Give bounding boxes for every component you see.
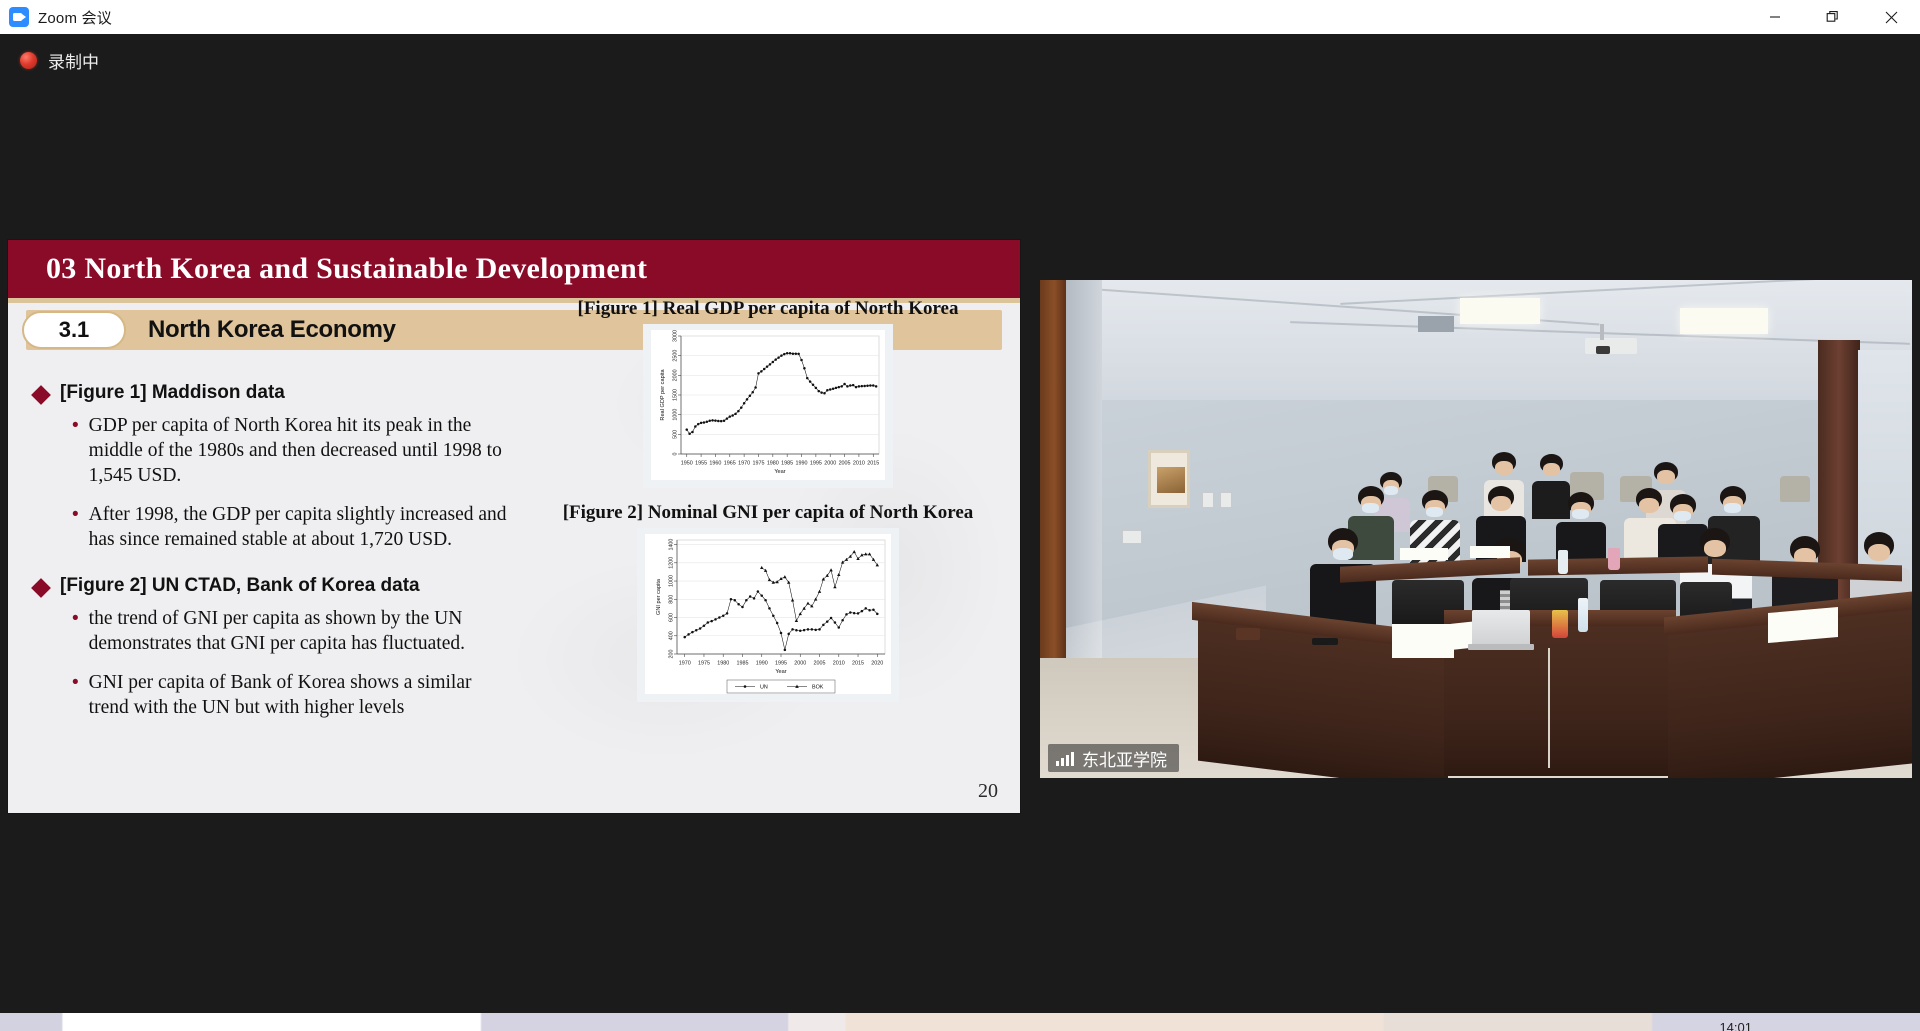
svg-text:800: 800 (668, 595, 674, 604)
diamond-bullet-icon (31, 578, 51, 598)
bullet-dot-icon: • (72, 414, 79, 489)
bullet-text: GDP per capita of North Korea hit its pe… (89, 414, 509, 489)
svg-text:1980: 1980 (767, 461, 779, 467)
slide-block-bullets: • the trend of GNI per capita as shown b… (72, 607, 564, 721)
record-dot-icon (20, 52, 37, 69)
svg-text:2015: 2015 (852, 661, 864, 667)
svg-text:1995: 1995 (810, 461, 822, 467)
svg-text:GNI per capita: GNI per capita (656, 578, 662, 615)
window-title-bar: Zoom 会议 (0, 0, 1920, 34)
bullet-text: After 1998, the GDP per capita slightly … (89, 503, 509, 553)
slide-title: 03 North Korea and Sustainable Developme… (46, 252, 647, 286)
window-title: Zoom 会议 (38, 7, 112, 28)
svg-text:2015: 2015 (867, 461, 879, 467)
svg-text:1980: 1980 (717, 661, 729, 667)
svg-text:2010: 2010 (833, 661, 845, 667)
slide-block-heading: [Figure 2] UN CTAD, Bank of Korea data (34, 575, 564, 597)
svg-text:1975: 1975 (752, 461, 764, 467)
figure2-container[interactable]: 2004006008001000120014001970197519801985… (637, 528, 899, 702)
svg-text:2005: 2005 (814, 661, 826, 667)
slide-header-bar: 03 North Korea and Sustainable Developme… (8, 240, 1020, 298)
shared-screen-slide[interactable]: 03 North Korea and Sustainable Developme… (8, 240, 1020, 813)
slide-block-heading: [Figure 1] Maddison data (34, 382, 564, 404)
svg-text:1970: 1970 (679, 661, 691, 667)
list-item: • GDP per capita of North Korea hit its … (72, 414, 564, 489)
slide-figures-column: [Figure 1] Real GDP per capita of North … (528, 298, 1008, 702)
svg-text:1985: 1985 (736, 661, 748, 667)
participant-name-label: 东北亚学院 (1048, 744, 1179, 772)
background-window-clock: 14:01 (1719, 1020, 1752, 1031)
restore-button[interactable] (1804, 0, 1862, 34)
svg-text:2500: 2500 (672, 350, 678, 362)
svg-text:1000: 1000 (668, 575, 674, 587)
bullet-text: the trend of GNI per capita as shown by … (89, 607, 509, 657)
figure1-container[interactable]: 0500100015002000250030001950195519601965… (643, 324, 893, 488)
svg-text:Year: Year (775, 669, 786, 675)
svg-text:2000: 2000 (824, 461, 836, 467)
list-item: • GNI per capita of Bank of Korea shows … (72, 671, 564, 721)
bullet-dot-icon: • (72, 671, 79, 721)
signal-bars-icon (1056, 751, 1074, 766)
svg-text:2000: 2000 (794, 661, 806, 667)
svg-text:1955: 1955 (695, 461, 707, 467)
window-controls (1746, 0, 1920, 34)
section-title: North Korea Economy (148, 316, 396, 344)
svg-text:1985: 1985 (781, 461, 793, 467)
svg-text:400: 400 (668, 631, 674, 640)
block-heading-text: [Figure 1] Maddison data (60, 382, 285, 404)
list-item: • After 1998, the GDP per capita slightl… (72, 503, 564, 553)
minimize-button[interactable] (1746, 0, 1804, 34)
svg-text:1500: 1500 (672, 389, 678, 401)
svg-text:1400: 1400 (668, 539, 674, 551)
restore-icon (1826, 10, 1840, 24)
close-button[interactable] (1862, 0, 1920, 34)
svg-text:1950: 1950 (681, 461, 693, 467)
zoom-camera-icon (9, 7, 29, 27)
figure1-svg: 0500100015002000250030001950195519601965… (651, 330, 885, 480)
figure2-plot: 2004006008001000120014001970197519801985… (645, 534, 891, 694)
svg-text:600: 600 (668, 613, 674, 622)
svg-text:1995: 1995 (775, 661, 787, 667)
slide-text-column: [Figure 1] Maddison data • GDP per capit… (34, 368, 564, 735)
svg-text:BOK: BOK (812, 685, 824, 691)
block-heading-text: [Figure 2] UN CTAD, Bank of Korea data (60, 575, 420, 597)
svg-text:1000: 1000 (672, 409, 678, 421)
figure2-svg: 2004006008001000120014001970197519801985… (645, 534, 891, 694)
svg-text:1975: 1975 (698, 661, 710, 667)
participant-video-tile[interactable]: 东北亚学院 (1040, 280, 1912, 778)
recording-indicator[interactable]: 录制中 (20, 48, 99, 73)
background-window-strip[interactable] (0, 1013, 1920, 1031)
svg-text:3000: 3000 (672, 330, 678, 342)
svg-text:Year: Year (774, 469, 785, 475)
section-number-badge: 3.1 (22, 311, 126, 349)
svg-text:1970: 1970 (738, 461, 750, 467)
bullet-dot-icon: • (72, 503, 79, 553)
figure1-caption: [Figure 1] Real GDP per capita of North … (528, 298, 1008, 320)
minimize-icon (1769, 11, 1781, 23)
bullet-text: GNI per capita of Bank of Korea shows a … (89, 671, 509, 721)
svg-text:UN: UN (760, 685, 768, 691)
close-icon (1885, 11, 1898, 24)
recording-bar: 录制中 (0, 34, 1920, 90)
zoom-meeting-window: Zoom 会议 录制中 (0, 0, 1920, 1031)
svg-text:2010: 2010 (853, 461, 865, 467)
svg-text:0: 0 (672, 453, 678, 456)
svg-text:1990: 1990 (756, 661, 768, 667)
svg-text:1965: 1965 (724, 461, 736, 467)
svg-text:2020: 2020 (871, 661, 883, 667)
svg-text:Real GDP per capita: Real GDP per capita (660, 369, 666, 421)
diamond-bullet-icon (31, 385, 51, 405)
svg-text:1960: 1960 (709, 461, 721, 467)
figure2-caption: [Figure 2] Nominal GNI per capita of Nor… (528, 502, 1008, 524)
video-wall-picture (1148, 450, 1190, 508)
slide-page-number: 20 (978, 780, 998, 803)
svg-text:1200: 1200 (668, 557, 674, 569)
svg-text:2005: 2005 (839, 461, 851, 467)
svg-text:500: 500 (672, 430, 678, 439)
bullet-dot-icon: • (72, 607, 79, 657)
figure1-plot: 0500100015002000250030001950195519601965… (651, 330, 885, 480)
participant-name: 东北亚学院 (1082, 746, 1167, 771)
recording-label: 录制中 (48, 48, 99, 73)
list-item: • the trend of GNI per capita as shown b… (72, 607, 564, 657)
svg-text:2000: 2000 (672, 369, 678, 381)
svg-text:200: 200 (668, 650, 674, 659)
slide-block-bullets: • GDP per capita of North Korea hit its … (72, 414, 564, 553)
svg-text:1990: 1990 (796, 461, 808, 467)
